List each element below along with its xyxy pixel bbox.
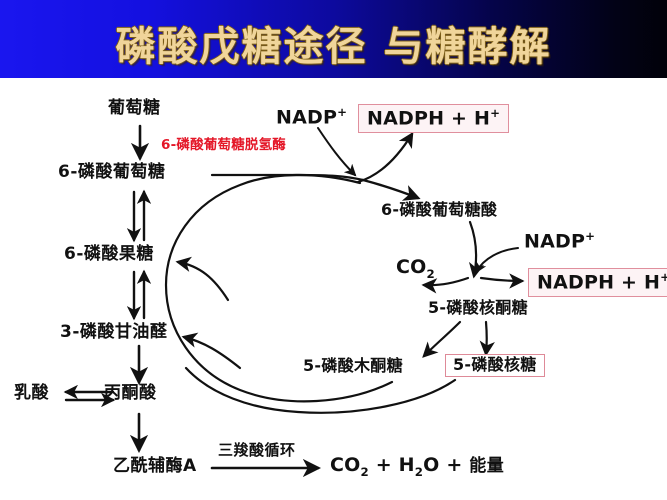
nadp2-text: NADP bbox=[524, 230, 585, 252]
co2-subscript: 2 bbox=[427, 267, 435, 281]
arrow-nadph2-out bbox=[481, 278, 522, 281]
box-ribose-5-phosphate: 5-磷酸核糖 bbox=[445, 354, 545, 377]
label-tca-cycle: 三羧酸循环 bbox=[218, 443, 296, 458]
tca-plus-2: + bbox=[440, 454, 470, 476]
tca-h2o-text: H bbox=[399, 454, 415, 476]
node-pyruvate: 丙酮酸 bbox=[104, 385, 157, 402]
tca-energy-text: 能量 bbox=[469, 456, 504, 476]
node-ribulose-5-phosphate: 5-磷酸核酮糖 bbox=[428, 300, 528, 316]
node-co2: CO2 bbox=[396, 258, 435, 281]
label-g6p-dehydrogenase: 6-磷酸葡萄糖脱氢酶 bbox=[161, 139, 286, 153]
nadp1-text: NADP bbox=[276, 106, 337, 128]
tca-co2-subscript: 2 bbox=[361, 465, 369, 479]
node-nadp-plus-2: NADP+ bbox=[524, 231, 595, 251]
node-xylulose-5-phosphate: 5-磷酸木酮糖 bbox=[303, 358, 403, 374]
arrow-ribulose-to-ribose bbox=[486, 322, 487, 354]
nadp1-superscript: + bbox=[337, 105, 347, 119]
node-tca-products: CO2 + H2O + 能量 bbox=[330, 456, 504, 479]
node-6-phosphogluconate: 6-磷酸葡萄糖酸 bbox=[381, 202, 497, 218]
page-title: 磷酸戊糖途径 与糖酵解 bbox=[0, 14, 667, 72]
node-lactate: 乳酸 bbox=[14, 385, 49, 402]
arrow-loop-to-gap bbox=[184, 337, 240, 368]
arrow-g6p-into-ppp bbox=[212, 175, 363, 180]
nadph1-text: NADPH + H bbox=[367, 107, 490, 129]
tca-plus-1: + bbox=[369, 454, 399, 476]
node-glucose-6-phosphate: 6-磷酸葡萄糖 bbox=[58, 164, 165, 181]
box-nadph-h-2: NADPH + H+ bbox=[528, 268, 667, 297]
tca-h2o-tail: O bbox=[423, 454, 439, 476]
node-acetyl-coa: 乙酰辅酶A bbox=[113, 458, 197, 475]
arrow-loop-to-f6p bbox=[178, 262, 228, 300]
arrow-gluconate-to-ribulose5p bbox=[470, 222, 476, 276]
nadp2-superscript: + bbox=[585, 229, 595, 243]
co2-text: CO bbox=[396, 256, 427, 278]
arrow-ribulose-to-xylulose bbox=[424, 322, 460, 356]
node-glyceraldehyde-3-phosphate: 3-磷酸甘油醛 bbox=[60, 324, 167, 341]
node-glucose: 葡萄糖 bbox=[108, 100, 161, 117]
slide-canvas: 磷酸戊糖途径 与糖酵解 bbox=[0, 0, 667, 500]
arrow-loop-to-gluconate6p bbox=[363, 180, 418, 198]
tca-h2o-subscript: 2 bbox=[415, 465, 423, 479]
nadph1-superscript: + bbox=[490, 106, 500, 120]
nadph2-text: NADPH + H bbox=[537, 271, 660, 293]
box-nadph-h-1: NADPH + H+ bbox=[358, 104, 509, 133]
arrow-nadph1-out bbox=[358, 134, 412, 182]
node-fructose-6-phosphate: 6-磷酸果糖 bbox=[64, 246, 154, 263]
tca-co2-text: CO bbox=[330, 454, 361, 476]
node-nadp-plus-1: NADP+ bbox=[276, 107, 347, 127]
arrow-nadp2-in bbox=[476, 248, 518, 272]
title-banner: 磷酸戊糖途径 与糖酵解 bbox=[0, 0, 667, 78]
arrow-nadp1-in bbox=[318, 128, 355, 175]
nadph2-superscript: + bbox=[660, 270, 667, 284]
